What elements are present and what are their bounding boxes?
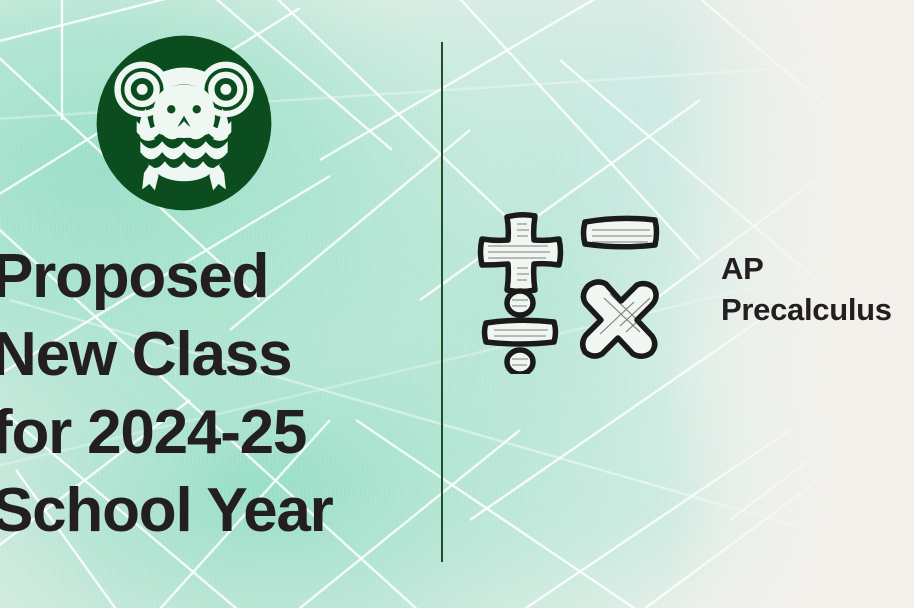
owl-right-pupil [193, 105, 201, 113]
owl-mascot-logo [93, 32, 275, 214]
math-operators-illustration [476, 194, 666, 374]
graphic-canvas: Proposed New Class for 2024-25 School Ye… [0, 0, 914, 608]
divide-top-dot [507, 291, 533, 315]
vertical-divider [441, 42, 443, 562]
divide-bottom-dot [507, 350, 533, 374]
subject-line-2: Precalculus [721, 289, 914, 330]
headline-line-2: New Class [0, 316, 422, 394]
headline-line-4: School Year [0, 472, 422, 550]
headline-line-3: for 2024-25 [0, 394, 422, 472]
subject-label: AP Precalculus [721, 248, 914, 330]
divide-bar [485, 320, 556, 344]
multiply-icon [583, 282, 656, 356]
subject-line-1: AP [721, 248, 914, 289]
page-title: Proposed New Class for 2024-25 School Ye… [0, 238, 422, 550]
headline-line-1: Proposed [0, 238, 422, 316]
owl-left-pupil [167, 105, 175, 113]
